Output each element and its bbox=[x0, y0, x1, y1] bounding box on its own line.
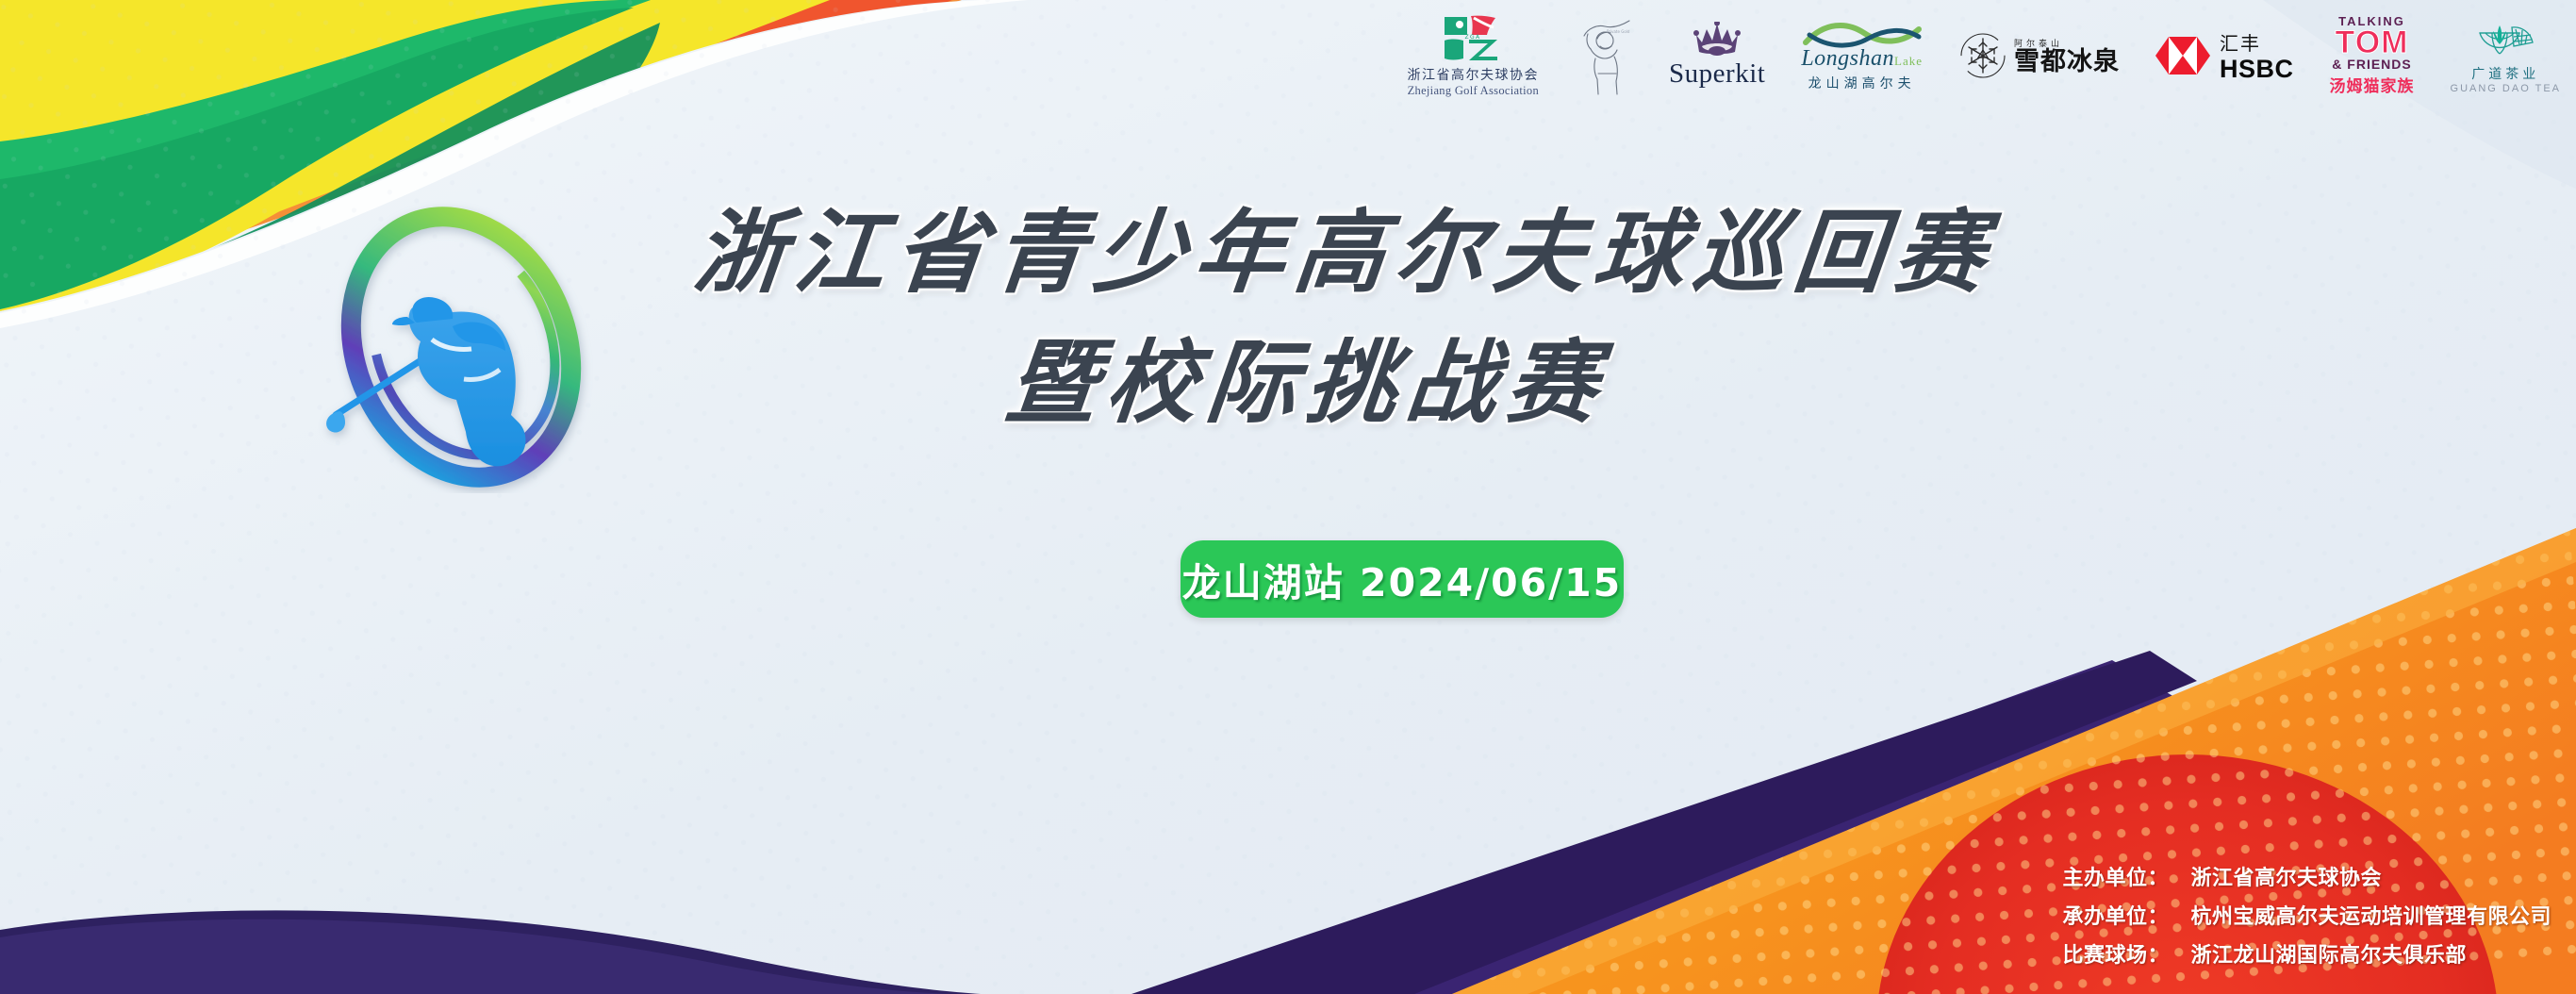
logo-superkit: Superkit bbox=[1669, 4, 1765, 108]
credit-value-venue: 浙江龙山湖国际高尔夫俱乐部 bbox=[2190, 938, 2467, 969]
logo-guang-dao-tea: 广道茶业 GUANG DAO TEA bbox=[2451, 4, 2561, 108]
logo-guangdao-cn: 广道茶业 bbox=[2471, 64, 2539, 83]
credits-block: 主办单位： 浙江省高尔夫球协会 承办单位： 杭州宝威高尔夫运动培训管理有限公司 … bbox=[2062, 861, 2551, 977]
credit-label-organizer: 主办单位： bbox=[2062, 861, 2190, 891]
golfer-lineart-icon: Private Gold bbox=[1575, 15, 1633, 96]
date-badge-text: 龙山湖站 2024/06/15 bbox=[1182, 551, 1622, 607]
date-badge: 龙山湖站 2024/06/15 bbox=[1181, 540, 1624, 618]
logo-hsbc: 汇丰 HSBC bbox=[2155, 4, 2294, 108]
zga-emblem-icon: ZGA bbox=[1443, 13, 1503, 62]
logo-talking-tom-and-friends: TALKING TOM & FRIENDS 汤姆猫家族 bbox=[2330, 4, 2415, 108]
golfer-emblem bbox=[315, 196, 607, 493]
logo-zhejiang-golf-association: ZGA 浙江省高尔夫球协会 Zhejiang Golf Association bbox=[1408, 4, 1540, 108]
hsbc-hexagon-icon bbox=[2155, 35, 2210, 76]
logo-zga-cn: 浙江省高尔夫球协会 bbox=[1408, 65, 1540, 84]
logo-xuedu-bingquan: 阿尔泰山 雪都冰泉 bbox=[1958, 4, 2120, 108]
logo-hsbc-en: HSBC bbox=[2220, 56, 2294, 82]
logo-guangdao-en: GUANG DAO TEA bbox=[2451, 83, 2561, 94]
teacup-globe-icon bbox=[2476, 18, 2535, 61]
logo-longshan-en: Longshan bbox=[1801, 46, 1894, 71]
event-banner: ZGA 浙江省高尔夫球协会 Zhejiang Golf Association bbox=[0, 0, 2576, 994]
logo-longshan-wordmark: LongshanLake bbox=[1801, 46, 1923, 72]
logo-tom-cn: 汤姆猫家族 bbox=[2330, 73, 2415, 96]
credit-row-host: 承办单位： 杭州宝威高尔夫运动培训管理有限公司 bbox=[2062, 900, 2551, 930]
logo-superkit-wordmark: Superkit bbox=[1669, 58, 1765, 90]
credit-value-host: 杭州宝威高尔夫运动培训管理有限公司 bbox=[2190, 900, 2551, 930]
logo-longshan-lake: LongshanLake 龙山湖高尔夫 bbox=[1801, 4, 1923, 108]
credit-value-organizer: 浙江省高尔夫球协会 bbox=[2190, 861, 2382, 891]
logo-longshan-lake-sub: Lake bbox=[1894, 54, 1923, 68]
logo-hsbc-cn: 汇丰 bbox=[2220, 28, 2294, 56]
credit-row-organizer: 主办单位： 浙江省高尔夫球协会 bbox=[2062, 861, 2551, 891]
credit-label-host: 承办单位： bbox=[2062, 900, 2190, 930]
logo-longshan-cn: 龙山湖高尔夫 bbox=[1808, 74, 1916, 92]
logo-zga-en: Zhejiang Golf Association bbox=[1408, 84, 1539, 98]
credit-row-venue: 比赛球场： 浙江龙山湖国际高尔夫俱乐部 bbox=[2062, 938, 2551, 969]
logo-tom-line3: & FRIENDS bbox=[2332, 58, 2411, 72]
credit-label-venue: 比赛球场： bbox=[2062, 938, 2190, 969]
logo-tom-line2: TOM bbox=[2336, 27, 2409, 58]
crown-icon bbox=[1693, 22, 1742, 58]
golfer-lineart-caption: Private Gold bbox=[1607, 29, 1630, 34]
logo-xuedu-cn: 雪都冰泉 bbox=[2014, 49, 2120, 75]
background-decoration bbox=[0, 0, 2576, 994]
snowflake-icon bbox=[1958, 31, 2007, 80]
sponsor-logo-strip: ZGA 浙江省高尔夫球协会 Zhejiang Golf Association bbox=[0, 0, 2576, 111]
logo-golfer-lineart: Private Gold bbox=[1575, 4, 1633, 108]
svg-text:ZGA: ZGA bbox=[1465, 34, 1481, 41]
